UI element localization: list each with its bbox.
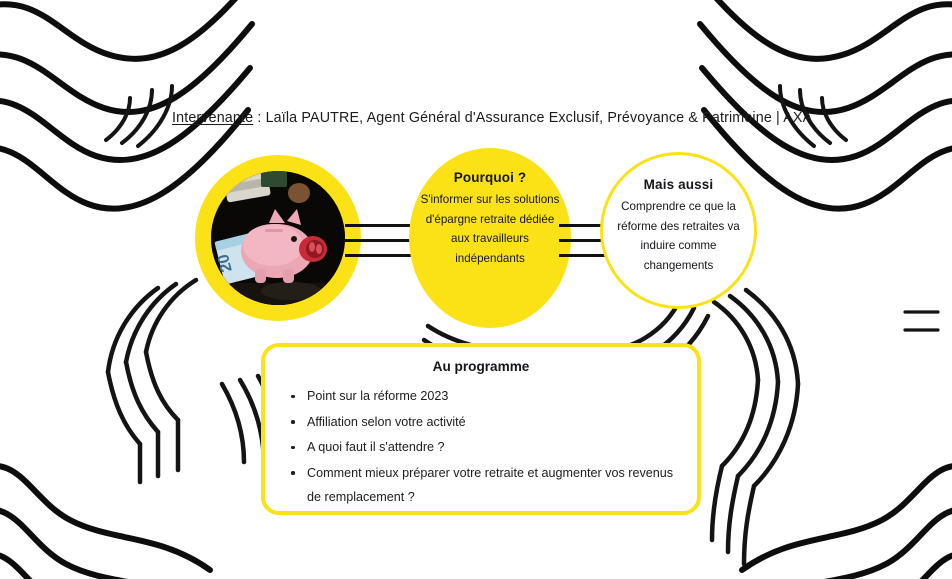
- connector-line: [345, 254, 419, 257]
- list-item: A quoi faut il s'attendre ?: [287, 435, 675, 460]
- list-item: Point sur la réforme 2023: [287, 384, 675, 409]
- circle-pourquoi-title: Pourquoi ?: [454, 170, 527, 185]
- circle-mais-aussi-title: Mais aussi: [644, 177, 714, 192]
- speaker-header: Intervenante : Laïla PAUTRE, Agent Génér…: [172, 110, 832, 126]
- circle-pourquoi: Pourquoi ? S'informer sur les solutions …: [409, 148, 571, 328]
- slide-canvas: Intervenante : Laïla PAUTRE, Agent Génér…: [0, 0, 952, 579]
- circle-pourquoi-body: S'informer sur les solutions d'épargne r…: [419, 190, 561, 268]
- connector-line: [345, 224, 419, 227]
- photo-circle-frame: 20: [195, 155, 361, 321]
- program-list: Point sur la réforme 2023 Affiliation se…: [287, 384, 675, 510]
- program-title: Au programme: [287, 359, 675, 374]
- program-card: Au programme Point sur la réforme 2023 A…: [261, 343, 701, 515]
- speaker-name: Laïla PAUTRE, Agent Général d'Assurance …: [266, 110, 813, 126]
- circle-mais-aussi-body: Comprendre ce que la réforme des retrait…: [605, 197, 753, 275]
- speaker-label: Intervenante: [172, 110, 253, 126]
- connector-line: [345, 239, 419, 242]
- signal-arc-left: [106, 86, 172, 146]
- connector-lines-photo-to-pourquoi: [345, 224, 419, 258]
- list-item: Comment mieux préparer votre retraite et…: [287, 461, 675, 510]
- small-dashes-right: [905, 312, 938, 330]
- arc-cluster-right: [712, 290, 798, 564]
- piggy-bank-image: 20: [211, 171, 345, 305]
- speaker-separator: :: [253, 110, 265, 126]
- circle-mais-aussi: Mais aussi Comprendre ce que la réforme …: [600, 152, 757, 309]
- list-item: Affiliation selon votre activité: [287, 410, 675, 435]
- arc-cluster-left: [108, 280, 196, 482]
